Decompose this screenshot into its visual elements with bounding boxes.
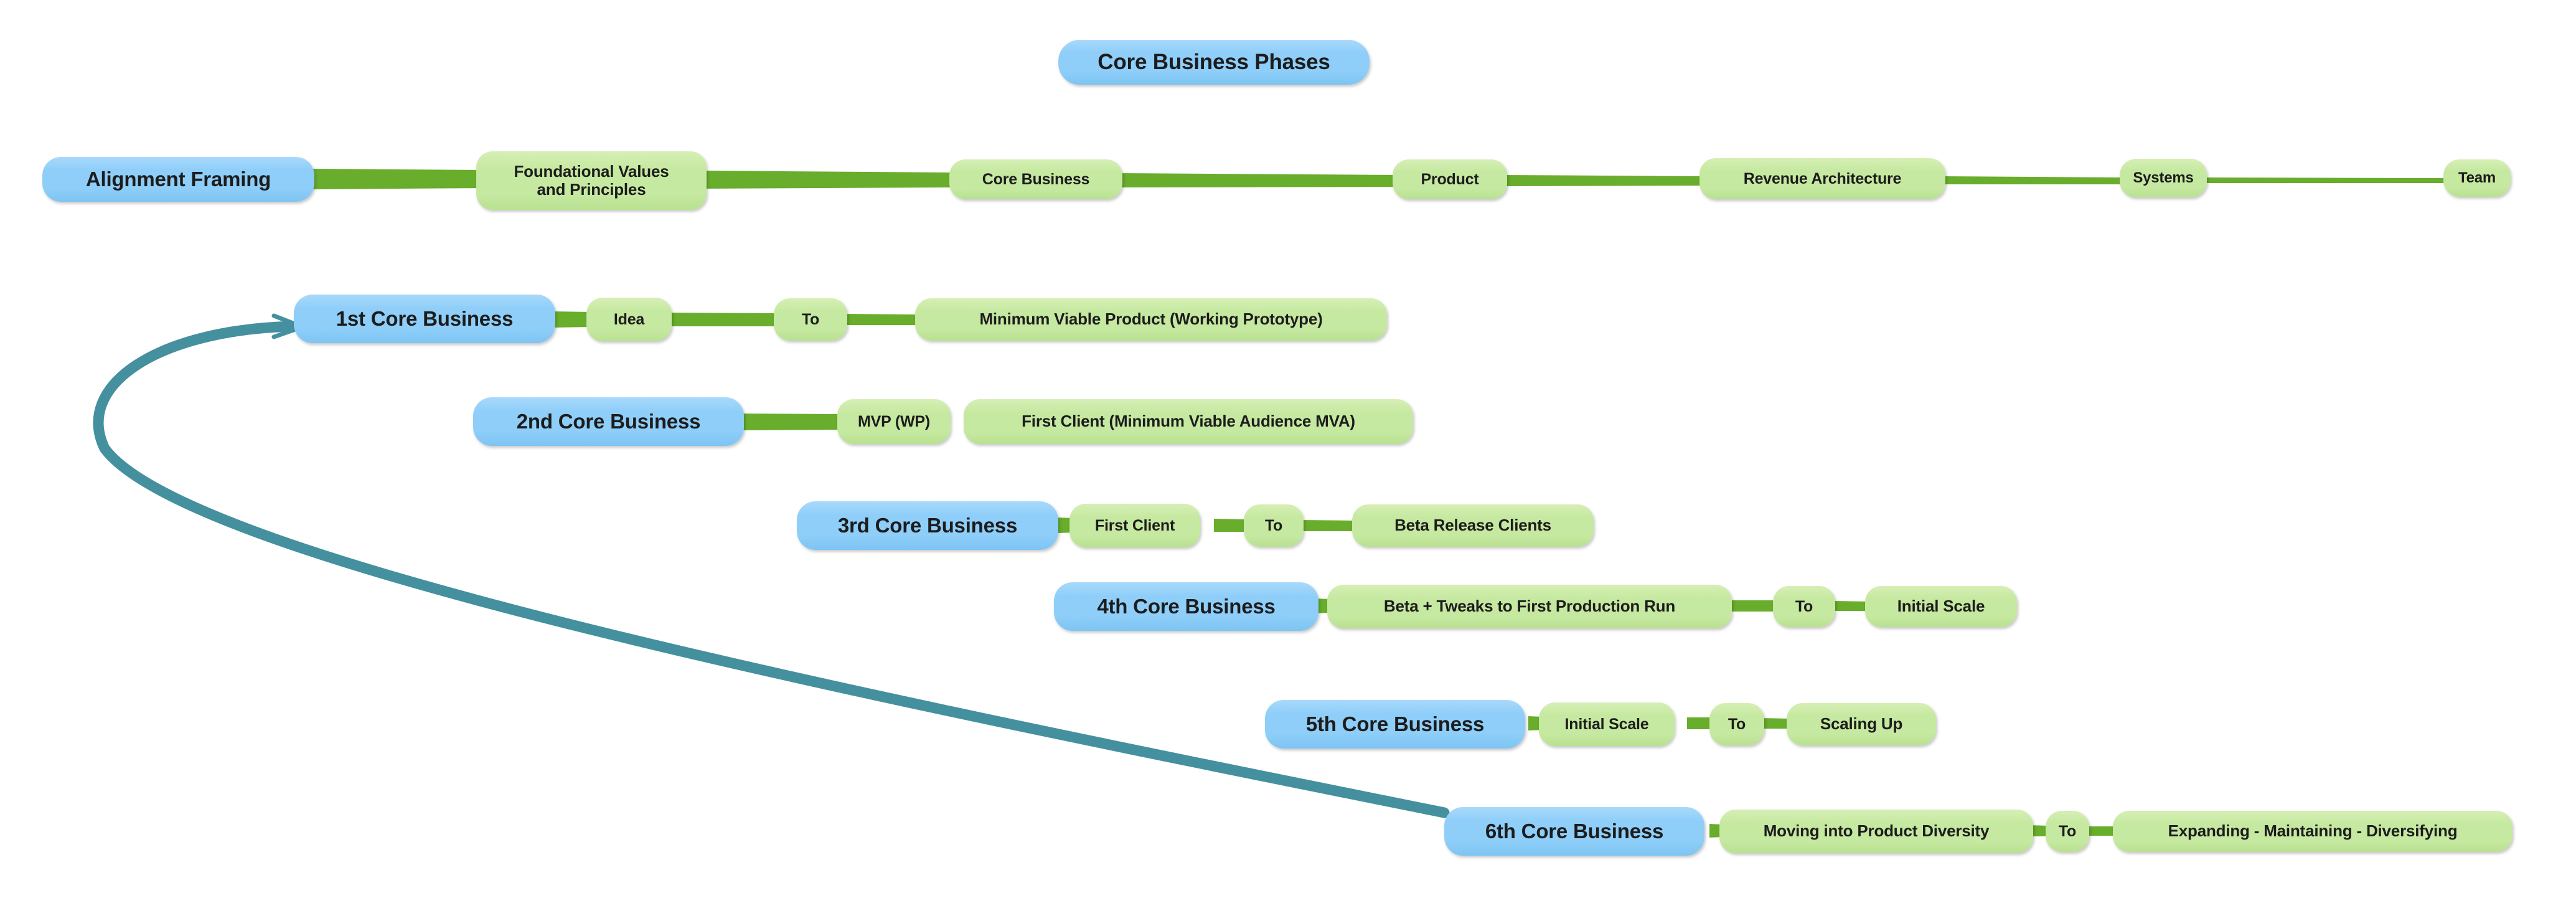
node-label: Foundational Values and Principles bbox=[514, 163, 669, 199]
node-label: 5th Core Business bbox=[1306, 713, 1484, 736]
mindmap-canvas: Core Business Phases Alignment Framing F… bbox=[0, 0, 2576, 898]
connector-foundational-to-corebusiness bbox=[700, 171, 954, 189]
node-label: Beta Release Clients bbox=[1394, 516, 1551, 534]
row3-connectors bbox=[740, 414, 842, 430]
diagram-title-label: Core Business Phases bbox=[1098, 50, 1330, 74]
connector-systems-to-team bbox=[2202, 177, 2448, 183]
connector-2nd-to-mvpwp bbox=[740, 414, 842, 430]
node-label: Beta + Tweaks to First Production Run bbox=[1384, 597, 1675, 615]
node-1st-core-business[interactable]: 1st Core Business bbox=[294, 295, 555, 343]
node-label: To bbox=[1728, 716, 1746, 733]
node-label: 2nd Core Business bbox=[517, 410, 701, 433]
node-first-client-mva[interactable]: First Client (Minimum Viable Audience MV… bbox=[964, 399, 1413, 444]
node-label: Expanding - Maintaining - Diversifying bbox=[2168, 822, 2458, 840]
node-expanding-maintaining-diversifying[interactable]: Expanding - Maintaining - Diversifying bbox=[2113, 811, 2513, 852]
node-label: To bbox=[1265, 517, 1282, 534]
node-label: First Client (Minimum Viable Audience MV… bbox=[1022, 412, 1355, 430]
node-first-client[interactable]: First Client bbox=[1069, 504, 1200, 547]
node-mvp-wp[interactable]: MVP (WP) bbox=[837, 399, 951, 444]
node-6th-core-business[interactable]: 6th Core Business bbox=[1444, 807, 1704, 856]
connector-alignment-to-foundational bbox=[311, 169, 482, 189]
node-label: Revenue Architecture bbox=[1744, 170, 1902, 187]
connector-idea-to-to bbox=[667, 313, 778, 326]
node-label: To bbox=[2059, 823, 2076, 840]
node-initial-scale-row5[interactable]: Initial Scale bbox=[1539, 702, 1675, 746]
node-beta-release-clients[interactable]: Beta Release Clients bbox=[1352, 504, 1594, 547]
connector-betatweaks-to-to bbox=[1728, 600, 1777, 612]
node-diversity-to[interactable]: To bbox=[2046, 811, 2089, 852]
connector-product-to-revenue bbox=[1502, 175, 1704, 186]
node-idea-to[interactable]: To bbox=[774, 298, 847, 341]
connector-to-to-initialscale bbox=[1835, 601, 1869, 611]
node-firstclient-to[interactable]: To bbox=[1244, 504, 1304, 547]
edge-layer bbox=[0, 0, 2576, 898]
node-label: Product bbox=[1421, 171, 1478, 188]
node-label: Initial Scale bbox=[1897, 597, 1985, 615]
node-3rd-core-business[interactable]: 3rd Core Business bbox=[797, 501, 1058, 550]
node-product[interactable]: Product bbox=[1393, 159, 1507, 199]
node-initial-scale-row4[interactable]: Initial Scale bbox=[1865, 586, 2017, 627]
node-label: MVP (WP) bbox=[858, 413, 930, 430]
connector-to-to-expanding bbox=[2085, 826, 2117, 836]
node-label: 6th Core Business bbox=[1485, 820, 1663, 843]
connector-corebusiness-to-product bbox=[1117, 173, 1398, 187]
node-beta-to[interactable]: To bbox=[1773, 586, 1835, 627]
node-label: Systems bbox=[2133, 170, 2193, 187]
node-team[interactable]: Team bbox=[2443, 159, 2511, 197]
node-label: To bbox=[802, 311, 819, 328]
node-alignment-framing[interactable]: Alignment Framing bbox=[42, 157, 314, 202]
node-idea[interactable]: Idea bbox=[586, 298, 672, 341]
node-label: 4th Core Business bbox=[1097, 595, 1275, 618]
connector-1st-to-idea bbox=[551, 311, 591, 328]
node-foundational-values-and-principles[interactable]: Foundational Values and Principles bbox=[476, 151, 707, 210]
connector-to-to-scalingup bbox=[1760, 718, 1790, 729]
node-minimum-viable-product[interactable]: Minimum Viable Product (Working Prototyp… bbox=[915, 298, 1387, 341]
node-label: Alignment Framing bbox=[86, 168, 271, 191]
connector-revenue-to-systems bbox=[1940, 176, 2125, 184]
node-2nd-core-business[interactable]: 2nd Core Business bbox=[473, 397, 744, 446]
node-label: 1st Core Business bbox=[336, 308, 514, 331]
node-4th-core-business[interactable]: 4th Core Business bbox=[1054, 582, 1319, 631]
connector-to-to-mvp bbox=[844, 314, 920, 325]
node-label: Scaling Up bbox=[1820, 715, 1902, 733]
node-systems[interactable]: Systems bbox=[2120, 159, 2207, 197]
node-scaling-up[interactable]: Scaling Up bbox=[1787, 703, 1936, 745]
node-core-business[interactable]: Core Business bbox=[949, 159, 1122, 199]
node-moving-into-product-diversity[interactable]: Moving into Product Diversity bbox=[1719, 810, 2033, 853]
connector-firstclient-to-to bbox=[1214, 519, 1248, 532]
node-label: Moving into Product Diversity bbox=[1764, 822, 1990, 840]
node-label: 3rd Core Business bbox=[838, 514, 1017, 537]
node-label: To bbox=[1795, 598, 1813, 615]
connector-to-to-beta bbox=[1298, 520, 1357, 531]
node-beta-tweaks-first-production-run[interactable]: Beta + Tweaks to First Production Run bbox=[1327, 585, 1732, 628]
diagram-title-node[interactable]: Core Business Phases bbox=[1058, 40, 1370, 85]
node-label: Core Business bbox=[982, 171, 1089, 188]
node-label: First Client bbox=[1095, 517, 1175, 534]
node-initialscale-to[interactable]: To bbox=[1709, 703, 1764, 745]
node-revenue-architecture[interactable]: Revenue Architecture bbox=[1699, 158, 1945, 199]
node-label: Idea bbox=[614, 311, 644, 328]
node-label: Team bbox=[2458, 170, 2496, 187]
node-label: Initial Scale bbox=[1565, 716, 1649, 733]
node-label: Minimum Viable Product (Working Prototyp… bbox=[979, 310, 1322, 328]
node-5th-core-business[interactable]: 5th Core Business bbox=[1265, 700, 1525, 749]
